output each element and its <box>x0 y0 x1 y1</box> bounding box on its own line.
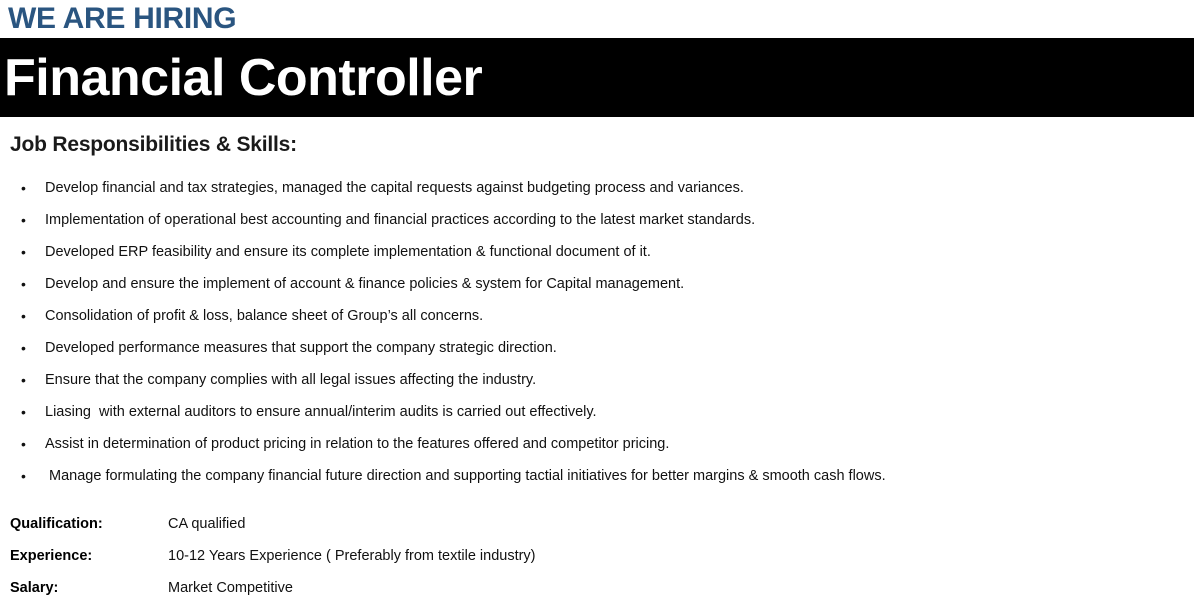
detail-value: 10-12 Years Experience ( Preferably from… <box>168 549 536 564</box>
detail-row: Experience:10-12 Years Experience ( Pref… <box>10 540 1186 572</box>
bullet-icon: • <box>21 277 26 291</box>
list-item-text: Liasing with external auditors to ensure… <box>45 405 597 420</box>
bullet-icon: • <box>21 309 26 323</box>
detail-value: Market Competitive <box>168 581 293 596</box>
list-item-text: Develop financial and tax strategies, ma… <box>45 181 744 196</box>
list-item: •Ensure that the company complies with a… <box>10 364 1186 396</box>
list-item: •Developed performance measures that sup… <box>10 332 1186 364</box>
list-item: •Consolidation of profit & loss, balance… <box>10 300 1186 332</box>
job-content: Job Responsibilities & Skills: •Develop … <box>0 133 1194 600</box>
list-item-text: Develop and ensure the implement of acco… <box>45 277 684 292</box>
hiring-eyebrow-bar: WE ARE HIRING <box>0 0 1194 38</box>
bullet-icon: • <box>21 469 26 483</box>
detail-value: CA qualified <box>168 517 245 532</box>
section-heading-responsibilities: Job Responsibilities & Skills: <box>10 133 1186 156</box>
list-item-text: Developed ERP feasibility and ensure its… <box>45 245 651 260</box>
detail-label: Salary: <box>10 581 168 596</box>
list-item-text: Consolidation of profit & loss, balance … <box>45 309 483 324</box>
detail-row: Salary:Market Competitive <box>10 572 1186 600</box>
bullet-icon: • <box>21 341 26 355</box>
detail-row: Qualification:CA qualified <box>10 508 1186 540</box>
list-item-text: Assist in determination of product prici… <box>45 437 669 452</box>
list-item: •Assist in determination of product pric… <box>10 428 1186 460</box>
bullet-icon: • <box>21 373 26 387</box>
hiring-eyebrow-text: WE ARE HIRING <box>8 4 236 34</box>
job-details-table: Qualification:CA qualifiedExperience:10-… <box>10 508 1186 600</box>
list-item-text: Developed performance measures that supp… <box>45 341 557 356</box>
job-posting-page: WE ARE HIRING Financial Controller Job R… <box>0 0 1194 600</box>
detail-label: Experience: <box>10 549 168 564</box>
list-item: •Liasing with external auditors to ensur… <box>10 396 1186 428</box>
bullet-icon: • <box>21 181 26 195</box>
bullet-icon: • <box>21 405 26 419</box>
job-title-banner: Financial Controller <box>0 38 1194 117</box>
detail-label: Qualification: <box>10 517 168 532</box>
bullet-icon: • <box>21 437 26 451</box>
list-item-text: Manage formulating the company financial… <box>45 469 886 484</box>
list-item: •Develop financial and tax strategies, m… <box>10 172 1186 204</box>
list-item: •Develop and ensure the implement of acc… <box>10 268 1186 300</box>
bullet-icon: • <box>21 245 26 259</box>
bullet-icon: • <box>21 213 26 227</box>
responsibilities-list: •Develop financial and tax strategies, m… <box>10 172 1186 492</box>
list-item: •Implementation of operational best acco… <box>10 204 1186 236</box>
job-title-text: Financial Controller <box>4 52 482 104</box>
list-item-text: Implementation of operational best accou… <box>45 213 755 228</box>
list-item-text: Ensure that the company complies with al… <box>45 373 536 388</box>
list-item: • Manage formulating the company financi… <box>10 460 1186 492</box>
list-item: •Developed ERP feasibility and ensure it… <box>10 236 1186 268</box>
